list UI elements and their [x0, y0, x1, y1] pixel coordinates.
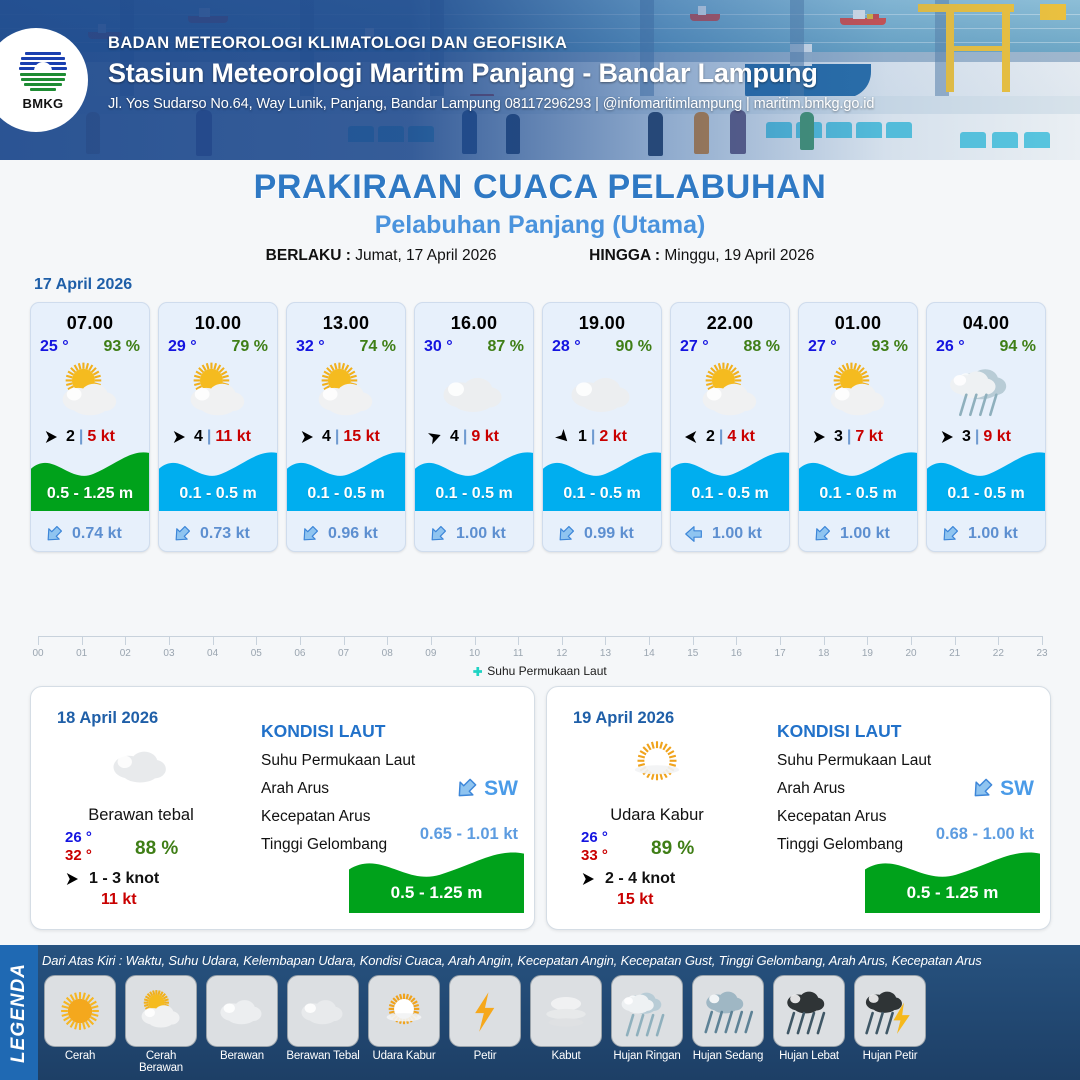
chart-tick	[605, 636, 606, 645]
day-current-direction: SW	[453, 775, 518, 802]
weather-icon-kabut	[537, 985, 595, 1037]
chart-tick-label: 17	[775, 648, 786, 659]
current-direction-icon-sw	[43, 523, 65, 545]
legend-item-label: Petir	[447, 1050, 523, 1062]
chart-tick	[736, 636, 737, 645]
card-wave-height: 0.1 - 0.5 m	[415, 485, 533, 503]
card-meta: 32 ° 74 %	[287, 334, 405, 356]
legend-item: Berawan	[204, 975, 280, 1074]
card-weather-icon	[287, 358, 405, 422]
wind-direction-icon-ene	[424, 428, 446, 446]
header-text-block: BADAN METEOROLOGI KLIMATOLOGI DAN GEOFIS…	[108, 34, 874, 112]
row-sst-label: Suhu Permukaan Laut	[251, 742, 534, 770]
card-wave: 0.1 - 0.5 m	[159, 447, 277, 511]
bmkg-logo-text: BMKG	[23, 96, 64, 111]
chart-tick	[955, 636, 956, 645]
current-direction-icon-sw	[555, 523, 577, 545]
legend-item-label: Hujan Sedang	[690, 1050, 766, 1062]
card-time: 22.00	[671, 313, 789, 334]
chart-tick	[82, 636, 83, 645]
header-banner: BMKG BADAN METEOROLOGI KLIMATOLOGI DAN G…	[0, 0, 1080, 160]
chart-tick-label: 22	[993, 648, 1004, 659]
weather-icon-petir	[456, 985, 514, 1037]
chart-tick-label: 16	[731, 648, 742, 659]
legend-item-label: Berawan	[204, 1050, 280, 1062]
day-condition: Berawan tebal	[31, 806, 251, 825]
legend-icon-box	[692, 975, 764, 1047]
card-weather-icon	[671, 358, 789, 422]
card-humidity: 90 %	[616, 338, 652, 356]
chart-tick-label: 08	[382, 648, 393, 659]
row-sst-label: Suhu Permukaan Laut	[767, 742, 1050, 770]
chart-tick	[387, 636, 388, 645]
chart-tick	[649, 636, 650, 645]
card-wind-speed: 9 kt	[471, 428, 499, 446]
wind-direction-icon-e	[808, 428, 830, 446]
legend-items: Cerah Cerah Berawan Berawan Berawan Teba…	[42, 975, 1078, 1074]
chart-tick-label: 23	[1036, 648, 1047, 659]
chart-tick-label: 09	[425, 648, 436, 659]
card-temperature: 26 °	[936, 338, 965, 356]
wind-direction-icon-e	[296, 428, 318, 446]
chart-tick	[213, 636, 214, 645]
wind-direction-icon-w	[680, 428, 702, 446]
card-current-speed: 0.73 kt	[200, 525, 250, 543]
chart-tick	[300, 636, 301, 645]
chart-tick-label: 18	[818, 648, 829, 659]
daily-forecast-panel[interactable]: 19 April 2026 Udara Kabur 26 ° 33 ° 89 %…	[546, 686, 1051, 930]
hourly-card[interactable]: 07.00 25 ° 93 % 2 | 5 kt 0.5 - 1.25 m 0.…	[30, 302, 150, 552]
card-wave: 0.5 - 1.25 m	[31, 447, 149, 511]
current-direction-icon-sw	[453, 775, 480, 802]
weather-icon-cerah-berawan	[817, 360, 899, 420]
card-humidity: 87 %	[488, 338, 524, 356]
chart-tick-label: 03	[163, 648, 174, 659]
legenda-tab-label: LEGENDA	[8, 963, 30, 1063]
bmkg-logo-mark	[18, 50, 68, 94]
chart-tick-label: 04	[207, 648, 218, 659]
card-current-speed: 0.74 kt	[72, 525, 122, 543]
current-direction-icon-sw	[299, 523, 321, 545]
chart-tick-label: 14	[644, 648, 655, 659]
card-weather-icon	[159, 358, 277, 422]
hourly-card[interactable]: 01.00 27 ° 93 % 3 | 7 kt 0.1 - 0.5 m 1.0…	[798, 302, 918, 552]
card-wind-speed: 15 kt	[343, 428, 379, 446]
hourly-card[interactable]: 16.00 30 ° 87 % 4 | 9 kt 0.1 - 0.5 m 1.0…	[414, 302, 534, 552]
card-current: 1.00 kt	[671, 523, 789, 545]
chart-tick-label: 13	[600, 648, 611, 659]
legend-item: Hujan Ringan	[609, 975, 685, 1074]
card-current-speed: 1.00 kt	[840, 525, 890, 543]
card-wind-scale: 4	[194, 428, 203, 446]
valid-to-label: HINGGA :	[589, 247, 660, 264]
card-wind-scale: 3	[962, 428, 971, 446]
card-wave-height: 0.1 - 0.5 m	[671, 485, 789, 503]
chart-tick	[562, 636, 563, 645]
sea-conditions-heading: KONDISI LAUT	[767, 687, 1050, 742]
card-weather-icon	[927, 358, 1045, 422]
title-block: PRAKIRAAN CUACA PELABUHAN Pelabuhan Panj…	[0, 168, 1080, 265]
legend-item: Hujan Lebat	[771, 975, 847, 1074]
day-summary: 19 April 2026 Udara Kabur 26 ° 33 ° 89 %…	[547, 687, 767, 929]
day-wind-speed: 2 - 4 knot	[605, 870, 675, 888]
card-wave: 0.1 - 0.5 m	[799, 447, 917, 511]
day-weather-icon	[31, 732, 251, 794]
card-current: 1.00 kt	[415, 523, 533, 545]
card-current-speed: 0.96 kt	[328, 525, 378, 543]
chart-tick	[867, 636, 868, 645]
wind-direction-icon-e	[577, 870, 599, 888]
card-wind-scale: 4	[450, 428, 459, 446]
chart-tick	[693, 636, 694, 645]
card-wave-height: 0.5 - 1.25 m	[31, 485, 149, 503]
sea-conditions: KONDISI LAUT Suhu Permukaan Laut Arah Ar…	[767, 687, 1050, 929]
current-direction-icon-sw	[969, 775, 996, 802]
hourly-card[interactable]: 10.00 29 ° 79 % 4 | 11 kt 0.1 - 0.5 m 0.…	[158, 302, 278, 552]
legenda-tab: LEGENDA	[0, 945, 38, 1080]
chart-tick-label: 11	[513, 648, 523, 659]
card-meta: 25 ° 93 %	[31, 334, 149, 356]
sst-legend-marker-icon	[473, 667, 482, 676]
card-temperature: 27 °	[680, 338, 709, 356]
day-wind: 2 - 4 knot	[547, 870, 767, 888]
card-wind-speed: 9 kt	[983, 428, 1011, 446]
card-current: 0.73 kt	[159, 523, 277, 545]
card-weather-icon	[415, 358, 533, 422]
legend-item-label: Cerah	[42, 1050, 118, 1062]
card-current: 0.99 kt	[543, 523, 661, 545]
legend-item-label: Udara Kabur	[366, 1050, 442, 1062]
card-wave: 0.1 - 0.5 m	[415, 447, 533, 511]
legend-item: Petir	[447, 975, 523, 1074]
agency-name: BADAN METEOROLOGI KLIMATOLOGI DAN GEOFIS…	[108, 34, 874, 53]
wind-direction-icon-e	[168, 428, 190, 446]
card-temperature: 30 °	[424, 338, 453, 356]
card-time: 19.00	[543, 313, 661, 334]
wind-direction-icon-e	[40, 428, 62, 446]
station-name: Stasiun Meteorologi Maritim Panjang - Ba…	[108, 58, 874, 89]
weather-icon-hujan-ringan	[618, 985, 676, 1037]
legend-item-label: Hujan Lebat	[771, 1050, 847, 1062]
valid-from-value: Jumat, 17 April 2026	[355, 247, 496, 264]
day-humidity: 88 %	[135, 838, 178, 860]
legend-item-label: Cerah Berawan	[123, 1050, 199, 1074]
weather-icon-udara-kabur	[375, 985, 433, 1037]
day-summary: 18 April 2026 Berawan tebal 26 ° 32 ° 88…	[31, 687, 251, 929]
chart-tick	[824, 636, 825, 645]
card-current: 0.74 kt	[31, 523, 149, 545]
card-time: 04.00	[927, 313, 1045, 334]
weather-icon-cerah-berawan	[177, 360, 259, 420]
legend-item: Kabut	[528, 975, 604, 1074]
day-wind-speed: 1 - 3 knot	[89, 870, 159, 888]
wind-separator: |	[207, 428, 211, 446]
card-current-speed: 0.99 kt	[584, 525, 634, 543]
legend-item: Cerah	[42, 975, 118, 1074]
chart-tick-label: 12	[556, 648, 567, 659]
card-temperature: 29 °	[168, 338, 197, 356]
card-wind-speed: 5 kt	[87, 428, 115, 446]
legend-item: Hujan Sedang	[690, 975, 766, 1074]
wind-separator: |	[591, 428, 595, 446]
weather-icon-cerah-berawan	[49, 360, 131, 420]
day-gust: 15 kt	[547, 891, 767, 909]
weather-icon-cerah	[51, 985, 109, 1037]
day-current-direction: SW	[969, 775, 1034, 802]
row-current-speed-label: Kecepatan Arus	[767, 798, 1050, 826]
card-weather-icon	[543, 358, 661, 422]
chart-tick	[780, 636, 781, 645]
card-wind-scale: 2	[66, 428, 75, 446]
card-wave-height: 0.1 - 0.5 m	[927, 485, 1045, 503]
chart-tick	[518, 636, 519, 645]
day-gust: 11 kt	[31, 891, 251, 909]
legend-item: Cerah Berawan	[123, 975, 199, 1074]
wind-direction-icon-se	[552, 428, 574, 446]
card-wind-speed: 2 kt	[599, 428, 627, 446]
day-current-direction-label: SW	[1000, 777, 1034, 801]
day-condition: Udara Kabur	[547, 806, 767, 825]
weather-icon-berawan-tebal	[104, 735, 178, 791]
weather-icon-hujan-sedang	[699, 985, 757, 1037]
card-weather-icon	[31, 358, 149, 422]
card-temperature: 32 °	[296, 338, 325, 356]
day-wave-height: 0.5 - 1.25 m	[349, 883, 524, 903]
chart-tick-label: 20	[905, 648, 916, 659]
day-date: 18 April 2026	[31, 687, 251, 728]
chart-tick	[475, 636, 476, 645]
wind-separator: |	[847, 428, 851, 446]
legend-icon-box	[449, 975, 521, 1047]
card-wave: 0.1 - 0.5 m	[543, 447, 661, 511]
chart-tick	[125, 636, 126, 645]
hourly-forecast-list: 07.00 25 ° 93 % 2 | 5 kt 0.5 - 1.25 m 0.…	[30, 302, 1052, 552]
card-temperature: 25 °	[40, 338, 69, 356]
chart-legend: Suhu Permukaan Laut	[0, 664, 1080, 678]
card-wind-speed: 4 kt	[727, 428, 755, 446]
chart-tick	[1042, 636, 1043, 645]
card-wave-height: 0.1 - 0.5 m	[159, 485, 277, 503]
card-wave-height: 0.1 - 0.5 m	[799, 485, 917, 503]
card-meta: 27 ° 93 %	[799, 334, 917, 356]
weather-icon-berawan	[213, 985, 271, 1037]
wind-separator: |	[463, 428, 467, 446]
chart-tick-label: 06	[294, 648, 305, 659]
legend-icon-box	[611, 975, 683, 1047]
current-direction-icon-sw	[811, 523, 833, 545]
card-wave: 0.1 - 0.5 m	[927, 447, 1045, 511]
wind-separator: |	[719, 428, 723, 446]
row-current-speed-label: Kecepatan Arus	[251, 798, 534, 826]
chart-tick	[169, 636, 170, 645]
card-meta: 28 ° 90 %	[543, 334, 661, 356]
legend-icon-box	[773, 975, 845, 1047]
day-wave: 0.5 - 1.25 m	[865, 847, 1040, 913]
legend-icon-box	[854, 975, 926, 1047]
wind-direction-icon-e	[936, 428, 958, 446]
day-humidity: 89 %	[651, 838, 694, 860]
weather-icon-cerah-berawan	[689, 360, 771, 420]
card-humidity: 74 %	[360, 338, 396, 356]
chart-tick-label: 01	[76, 648, 87, 659]
day-wind: 1 - 3 knot	[31, 870, 251, 888]
card-wave-height: 0.1 - 0.5 m	[287, 485, 405, 503]
card-current-speed: 1.00 kt	[712, 525, 762, 543]
legend-icon-box	[206, 975, 278, 1047]
legend-item-label: Hujan Petir	[852, 1050, 928, 1062]
weather-icon-hujan-ringan	[945, 360, 1027, 420]
valid-to-value: Minggu, 19 April 2026	[664, 247, 814, 264]
day-wave: 0.5 - 1.25 m	[349, 847, 524, 913]
weather-icon-cerah-berawan	[132, 985, 190, 1037]
chart-tick-label: 19	[862, 648, 873, 659]
valid-from-label: BERLAKU :	[266, 247, 351, 264]
hourly-date-label: 17 April 2026	[34, 276, 132, 294]
card-current: 1.00 kt	[799, 523, 917, 545]
card-humidity: 79 %	[232, 338, 268, 356]
day-current-speed: 0.65 - 1.01 kt	[420, 825, 518, 844]
card-wave: 0.1 - 0.5 m	[671, 447, 789, 511]
card-meta: 29 ° 79 %	[159, 334, 277, 356]
card-wind-scale: 1	[578, 428, 587, 446]
card-humidity: 88 %	[744, 338, 780, 356]
validity-row: BERLAKU : Jumat, 17 April 2026 HINGGA : …	[0, 247, 1080, 265]
card-temperature: 27 °	[808, 338, 837, 356]
wind-separator: |	[335, 428, 339, 446]
current-direction-icon-sw	[171, 523, 193, 545]
chart-tick	[344, 636, 345, 645]
card-time: 01.00	[799, 313, 917, 334]
weather-icon-berawan-tebal	[294, 985, 352, 1037]
legend-icon-box	[287, 975, 359, 1047]
card-meta: 26 ° 94 %	[927, 334, 1045, 356]
legend-item-label: Kabut	[528, 1050, 604, 1062]
chart-tick-label: 21	[949, 648, 960, 659]
card-weather-icon	[799, 358, 917, 422]
card-current: 1.00 kt	[927, 523, 1045, 545]
card-current-speed: 1.00 kt	[968, 525, 1018, 543]
chart-tick	[256, 636, 257, 645]
card-current-speed: 1.00 kt	[456, 525, 506, 543]
legend-item-label: Hujan Ringan	[609, 1050, 685, 1062]
legend-item-label: Berawan Tebal	[285, 1050, 361, 1062]
card-wave-height: 0.1 - 0.5 m	[543, 485, 661, 503]
card-time: 10.00	[159, 313, 277, 334]
legend-icon-box	[44, 975, 116, 1047]
legend-bar: LEGENDA Dari Atas Kiri : Waktu, Suhu Uda…	[0, 945, 1080, 1080]
hourly-card[interactable]: 04.00 26 ° 94 % 3 | 9 kt 0.1 - 0.5 m	[926, 302, 1046, 552]
card-time: 16.00	[415, 313, 533, 334]
daily-forecast-panel[interactable]: 18 April 2026 Berawan tebal 26 ° 32 ° 88…	[30, 686, 535, 930]
chart-tick-label: 05	[251, 648, 262, 659]
legend-icon-box	[125, 975, 197, 1047]
weather-icon-udara-kabur	[620, 735, 694, 791]
card-wave: 0.1 - 0.5 m	[287, 447, 405, 511]
page-subtitle: Pelabuhan Panjang (Utama)	[0, 211, 1080, 240]
hourly-card[interactable]: 19.00 28 ° 90 % 1 | 2 kt 0.1 - 0.5 m 0.9…	[542, 302, 662, 552]
station-contact: Jl. Yos Sudarso No.64, Way Lunik, Panjan…	[108, 96, 874, 112]
card-wind-scale: 3	[834, 428, 843, 446]
card-meta: 27 ° 88 %	[671, 334, 789, 356]
legend-icon-box	[368, 975, 440, 1047]
chart-tick-label: 00	[32, 648, 43, 659]
card-wind-speed: 7 kt	[855, 428, 883, 446]
day-temps: 26 ° 32 ° 88 %	[31, 829, 251, 864]
sea-conditions-heading: KONDISI LAUT	[251, 687, 534, 742]
card-wind-scale: 2	[706, 428, 715, 446]
weather-icon-cerah-berawan	[305, 360, 387, 420]
wind-direction-icon-e	[61, 870, 83, 888]
day-wave-height: 0.5 - 1.25 m	[865, 883, 1040, 903]
wave-shape	[865, 847, 1040, 913]
chart-tick	[38, 636, 39, 645]
card-humidity: 94 %	[1000, 338, 1036, 356]
weather-icon-hujan-lebat	[780, 985, 838, 1037]
card-current: 0.96 kt	[287, 523, 405, 545]
card-time: 13.00	[287, 313, 405, 334]
current-direction-icon-sw	[939, 523, 961, 545]
wind-separator: |	[975, 428, 979, 446]
wave-shape	[349, 847, 524, 913]
page-title: PRAKIRAAN CUACA PELABUHAN	[0, 168, 1080, 207]
chart-tick-label: 15	[687, 648, 698, 659]
weather-icon-hujan-petir	[861, 985, 919, 1037]
card-meta: 30 ° 87 %	[415, 334, 533, 356]
current-direction-icon-w	[683, 523, 705, 545]
legend-icon-box	[530, 975, 602, 1047]
weather-icon-berawan	[433, 360, 515, 420]
legend-item: Hujan Petir	[852, 975, 928, 1074]
card-time: 07.00	[31, 313, 149, 334]
legend-note: Dari Atas Kiri : Waktu, Suhu Udara, Kele…	[42, 953, 1076, 968]
chart-tick	[911, 636, 912, 645]
legend-item: Berawan Tebal	[285, 975, 361, 1074]
chart-tick-label: 10	[469, 648, 480, 659]
chart-tick	[431, 636, 432, 645]
wind-separator: |	[79, 428, 83, 446]
card-temperature: 28 °	[552, 338, 581, 356]
sst-legend-label: Suhu Permukaan Laut	[487, 664, 606, 678]
day-current-speed: 0.68 - 1.00 kt	[936, 825, 1034, 844]
chart-tick-label: 07	[338, 648, 349, 659]
day-weather-icon	[547, 732, 767, 794]
card-wind-speed: 11 kt	[215, 428, 251, 446]
chart-tick-label: 02	[120, 648, 131, 659]
card-humidity: 93 %	[104, 338, 140, 356]
day-date: 19 April 2026	[547, 687, 767, 728]
card-wind-scale: 4	[322, 428, 331, 446]
day-temps: 26 ° 33 ° 89 %	[547, 829, 767, 864]
current-direction-icon-sw	[427, 523, 449, 545]
chart-tick	[998, 636, 999, 645]
sea-conditions: KONDISI LAUT Suhu Permukaan Laut Arah Ar…	[251, 687, 534, 929]
hourly-card[interactable]: 13.00 32 ° 74 % 4 | 15 kt 0.1 - 0.5 m 0.…	[286, 302, 406, 552]
weather-icon-berawan	[561, 360, 643, 420]
day-current-direction-label: SW	[484, 777, 518, 801]
legend-item: Udara Kabur	[366, 975, 442, 1074]
card-humidity: 93 %	[872, 338, 908, 356]
hourly-card[interactable]: 22.00 27 ° 88 % 2 | 4 kt 0.1 - 0.5 m 1.0…	[670, 302, 790, 552]
